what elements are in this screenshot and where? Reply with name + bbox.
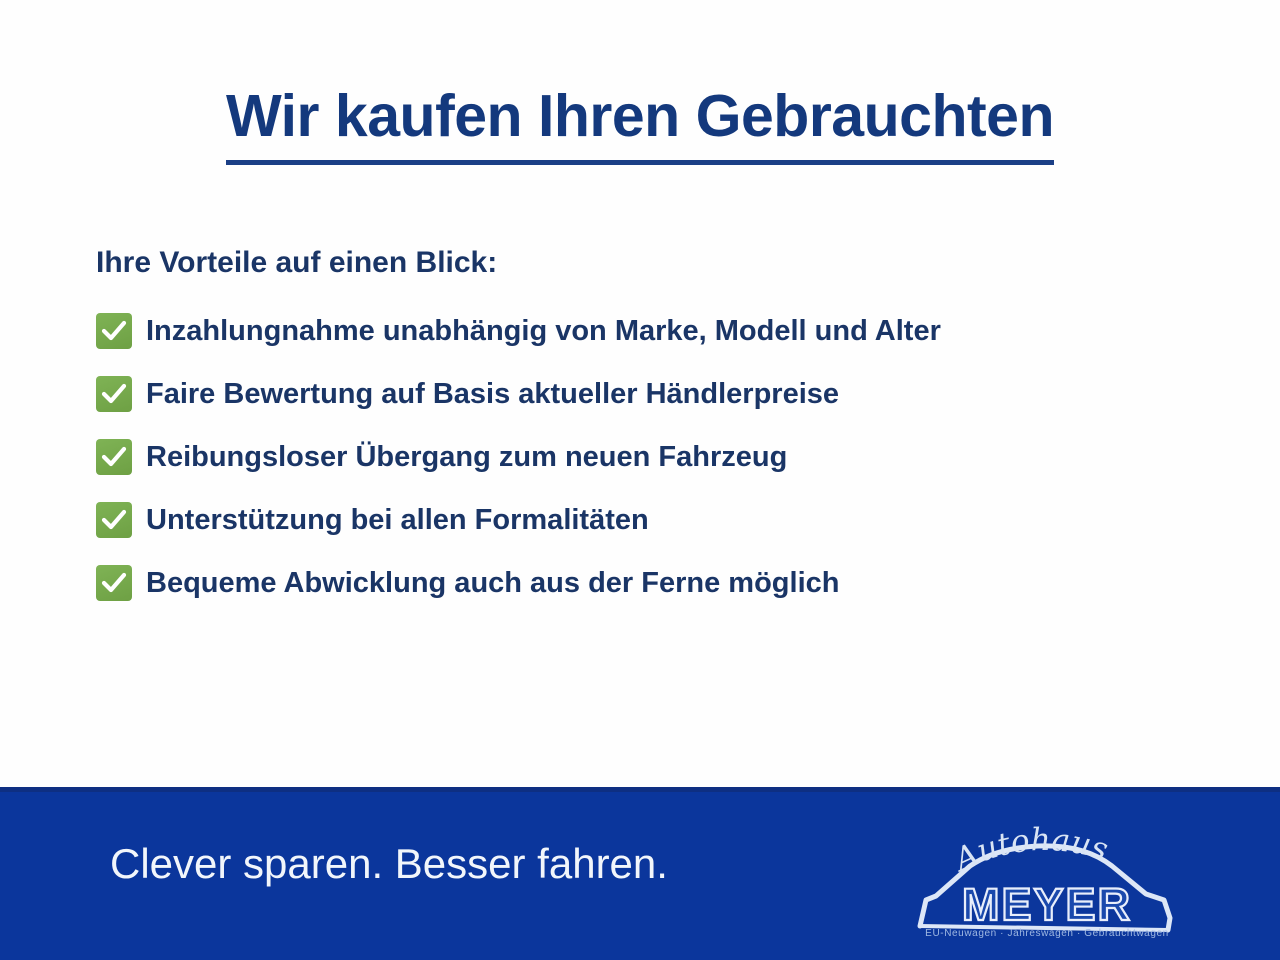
logo-name-text: MEYER — [962, 879, 1132, 930]
green-check-icon — [96, 313, 132, 349]
green-check-icon — [96, 565, 132, 601]
list-item: Faire Bewertung auf Basis aktueller Händ… — [96, 373, 1216, 415]
list-item: Bequeme Abwicklung auch aus der Ferne mö… — [96, 562, 1216, 604]
green-check-icon — [96, 502, 132, 538]
benefits-subheading: Ihre Vorteile auf einen Blick: — [96, 246, 497, 280]
page-title: Wir kaufen Ihren Gebrauchten — [226, 86, 1054, 165]
headline-container: Wir kaufen Ihren Gebrauchten — [0, 86, 1280, 165]
dealer-logo: Autohaus MEYER EU-Neuwagen · Jahreswagen… — [912, 814, 1182, 942]
green-check-icon — [96, 439, 132, 475]
green-check-icon — [96, 376, 132, 412]
slogan-text: Clever sparen. Besser fahren. — [110, 840, 668, 888]
benefit-label: Inzahlungnahme unabhängig von Marke, Mod… — [146, 317, 941, 346]
benefit-label: Unterstützung bei allen Formalitäten — [146, 506, 649, 535]
logo-tagline-text: EU-Neuwagen · Jahreswagen · Gebrauchtwag… — [925, 928, 1169, 939]
logo-script-text: Autohaus — [947, 822, 1113, 880]
benefits-list: Inzahlungnahme unabhängig von Marke, Mod… — [96, 310, 1216, 625]
list-item: Inzahlungnahme unabhängig von Marke, Mod… — [96, 310, 1216, 352]
list-item: Reibungsloser Übergang zum neuen Fahrzeu… — [96, 436, 1216, 478]
list-item: Unterstützung bei allen Formalitäten — [96, 499, 1216, 541]
benefit-label: Bequeme Abwicklung auch aus der Ferne mö… — [146, 569, 839, 598]
benefit-label: Reibungsloser Übergang zum neuen Fahrzeu… — [146, 443, 787, 472]
promo-poster: Wir kaufen Ihren Gebrauchten Ihre Vortei… — [0, 0, 1280, 960]
footer-banner: Clever sparen. Besser fahren. Autohaus M… — [0, 787, 1280, 960]
benefit-label: Faire Bewertung auf Basis aktueller Händ… — [146, 380, 839, 409]
